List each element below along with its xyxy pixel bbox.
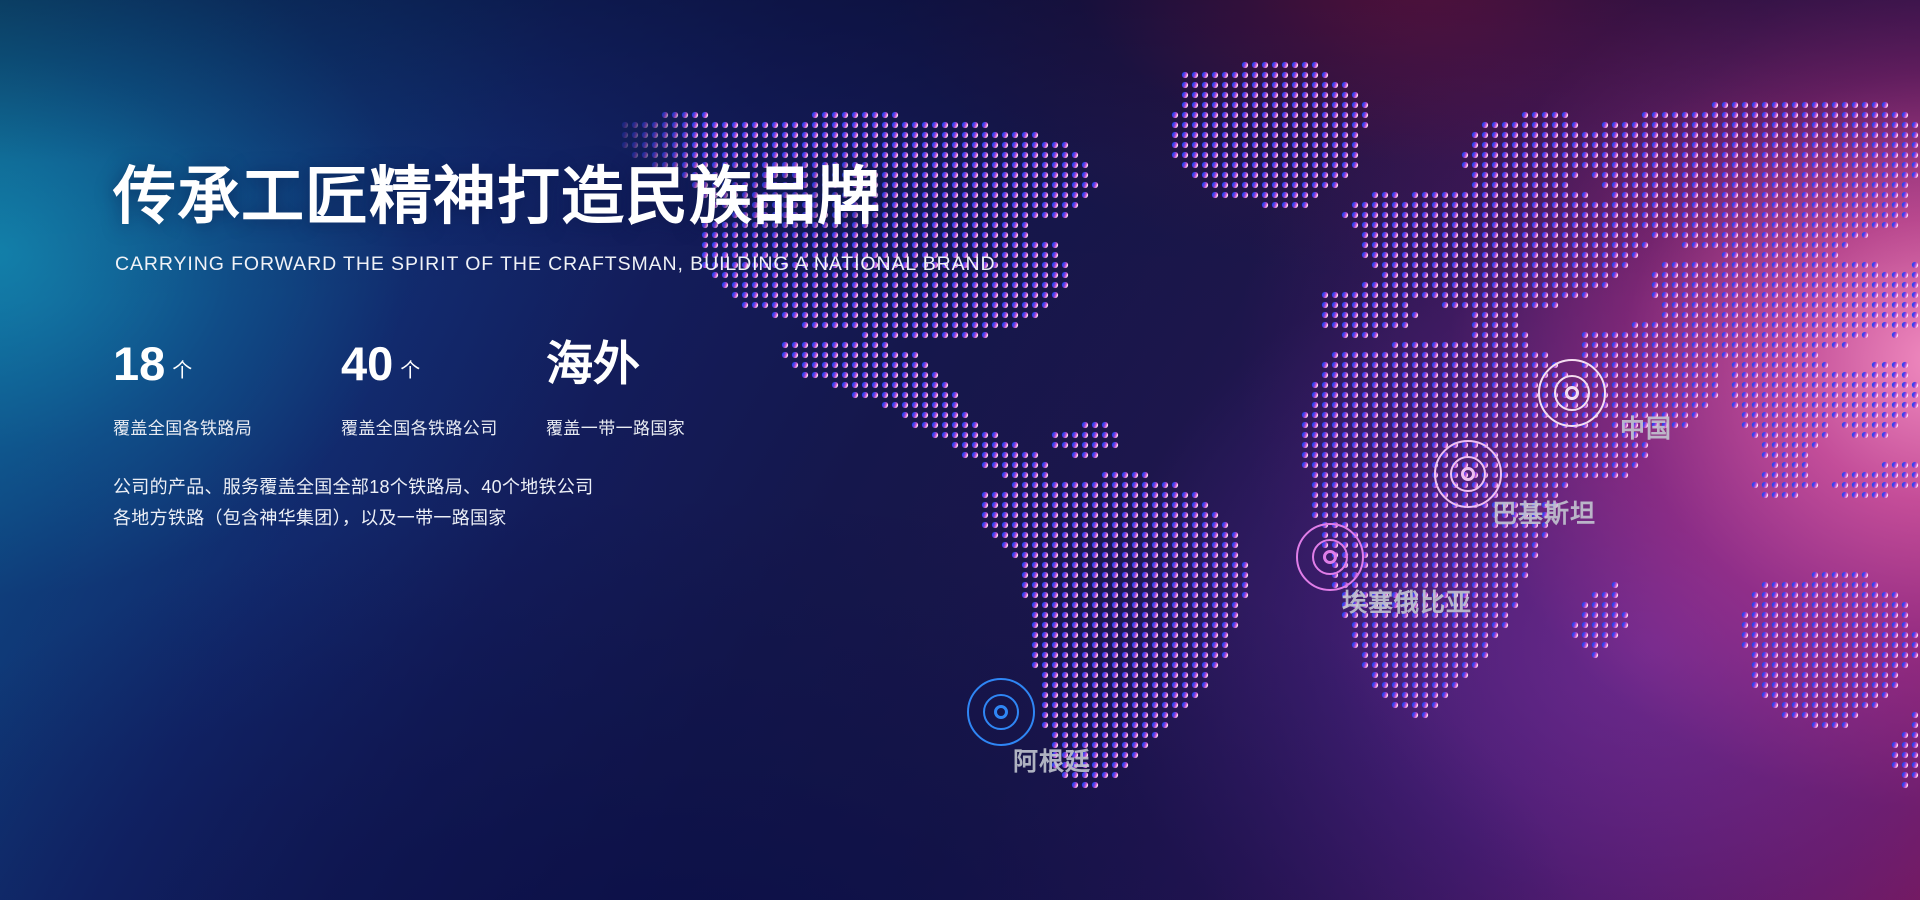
stat-description: 覆盖一带一路国家	[546, 414, 766, 439]
banner-content: 传承工匠精神打造民族品牌 CARRYING FORWARD THE SPIRIT…	[113, 0, 873, 900]
page-title: 传承工匠精神打造民族品牌	[113, 166, 881, 229]
stat-item-overseas: 海外 覆盖一带一路国家	[546, 340, 766, 439]
paragraph-line-2: 各地方铁路（包含神华集团），以及一带一路国家	[113, 503, 593, 534]
stat-item-railway-companies: 40 个 覆盖全国各铁路公司	[341, 340, 546, 439]
hero-banner: 中国巴基斯坦埃塞俄比亚阿根廷 传承工匠精神打造民族品牌 CARRYING FOR…	[0, 0, 1920, 900]
stat-unit: 个	[172, 361, 192, 381]
stat-value-row: 40 个	[341, 340, 546, 398]
paragraph-line-1: 公司的产品、服务覆盖全国全部18个铁路局、40个地铁公司	[113, 472, 593, 503]
stat-item-railway-bureaus: 18 个 覆盖全国各铁路局	[113, 340, 341, 439]
page-subtitle: CARRYING FORWARD THE SPIRIT OF THE CRAFT…	[115, 253, 996, 276]
description-paragraph: 公司的产品、服务覆盖全国全部18个铁路局、40个地铁公司 各地方铁路（包含神华集…	[113, 472, 593, 534]
stat-value-row: 海外	[546, 340, 766, 398]
stat-value: 海外	[546, 340, 640, 387]
stat-value-row: 18 个	[113, 340, 341, 398]
stat-unit: 个	[400, 361, 420, 381]
stats-row: 18 个 覆盖全国各铁路局 40 个 覆盖全国各铁路公司 海外 覆盖一带一路国家	[113, 340, 766, 439]
stat-description: 覆盖全国各铁路公司	[341, 414, 546, 439]
stat-value: 40	[341, 340, 393, 387]
stat-description: 覆盖全国各铁路局	[113, 414, 341, 439]
stat-value: 18	[113, 340, 165, 387]
